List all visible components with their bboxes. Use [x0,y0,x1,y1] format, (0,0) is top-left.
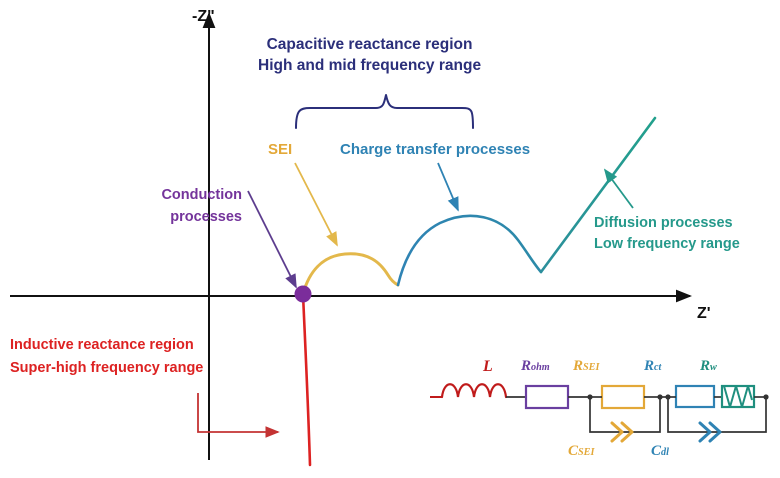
c-dl-subscript: dl [661,447,669,458]
r-ct-caption: Rct [644,358,661,375]
r-ct-symbol: R [644,358,654,374]
intercept-marker [295,286,312,303]
capacitive-region-label: Capacitive reactance region High and mid… [258,34,481,76]
r-w-caption: Rw [700,358,717,375]
conduction-arrow [248,191,296,287]
r-ohm-symbol: R [521,358,531,374]
charge-transfer-arrow [438,163,458,210]
r-ohm-caption: Rohm [521,358,550,375]
y-axis-label: -Z" [192,8,215,26]
resistor-r-ct [676,386,714,407]
c-dl-caption: Cdl [651,443,669,460]
sei-label: SEI [268,141,292,158]
curve-charge-transfer [398,216,541,285]
diffusion-line-2: Low frequency range [594,236,740,252]
r-w-subscript: w [710,362,717,373]
equivalent-circuit [430,384,769,441]
sei-arrow [295,163,337,245]
c-sei-symbol: C [568,443,578,459]
diffusion-line-1: Diffusion processes [594,215,733,231]
r-ohm-subscript: ohm [531,362,550,373]
r-sei-subscript: SEI [583,362,599,373]
curve-sei [303,254,398,294]
inductor-L [442,384,506,397]
inductor-symbol: L [483,358,493,375]
capacitive-line-1: Capacitive reactance region [267,36,473,53]
r-w-symbol: R [700,358,710,374]
c-dl-symbol: C [651,443,661,459]
conduction-label: Conduction processes [132,184,242,228]
inductive-line-1: Inductive reactance region [10,337,194,353]
inductive-line-2: Super-high frequency range [10,360,203,376]
diffusion-arrow [605,170,633,208]
inductive-label: Inductive reactance region Super-high fr… [10,334,203,380]
resistor-r-sei [602,386,644,408]
c-sei-caption: CSEI [568,443,594,460]
curve-inductive [303,294,310,465]
capacitive-line-2: High and mid frequency range [258,57,481,74]
charge-transfer-label: Charge transfer processes [340,141,530,158]
axes [10,14,690,460]
resistor-r-ohm [526,386,568,408]
r-ct-subscript: ct [654,362,661,373]
r-sei-symbol: R [573,358,583,374]
c-sei-subscript: SEI [578,447,594,458]
inductor-caption: L [483,358,493,376]
diffusion-label: Diffusion processes Low frequency range [594,213,740,255]
conduction-line-1: Conduction [161,187,242,203]
x-axis-label: Z' [697,305,711,323]
capacitive-brace [296,95,473,128]
r-sei-caption: RSEI [573,358,599,375]
conduction-line-2: processes [170,209,242,225]
